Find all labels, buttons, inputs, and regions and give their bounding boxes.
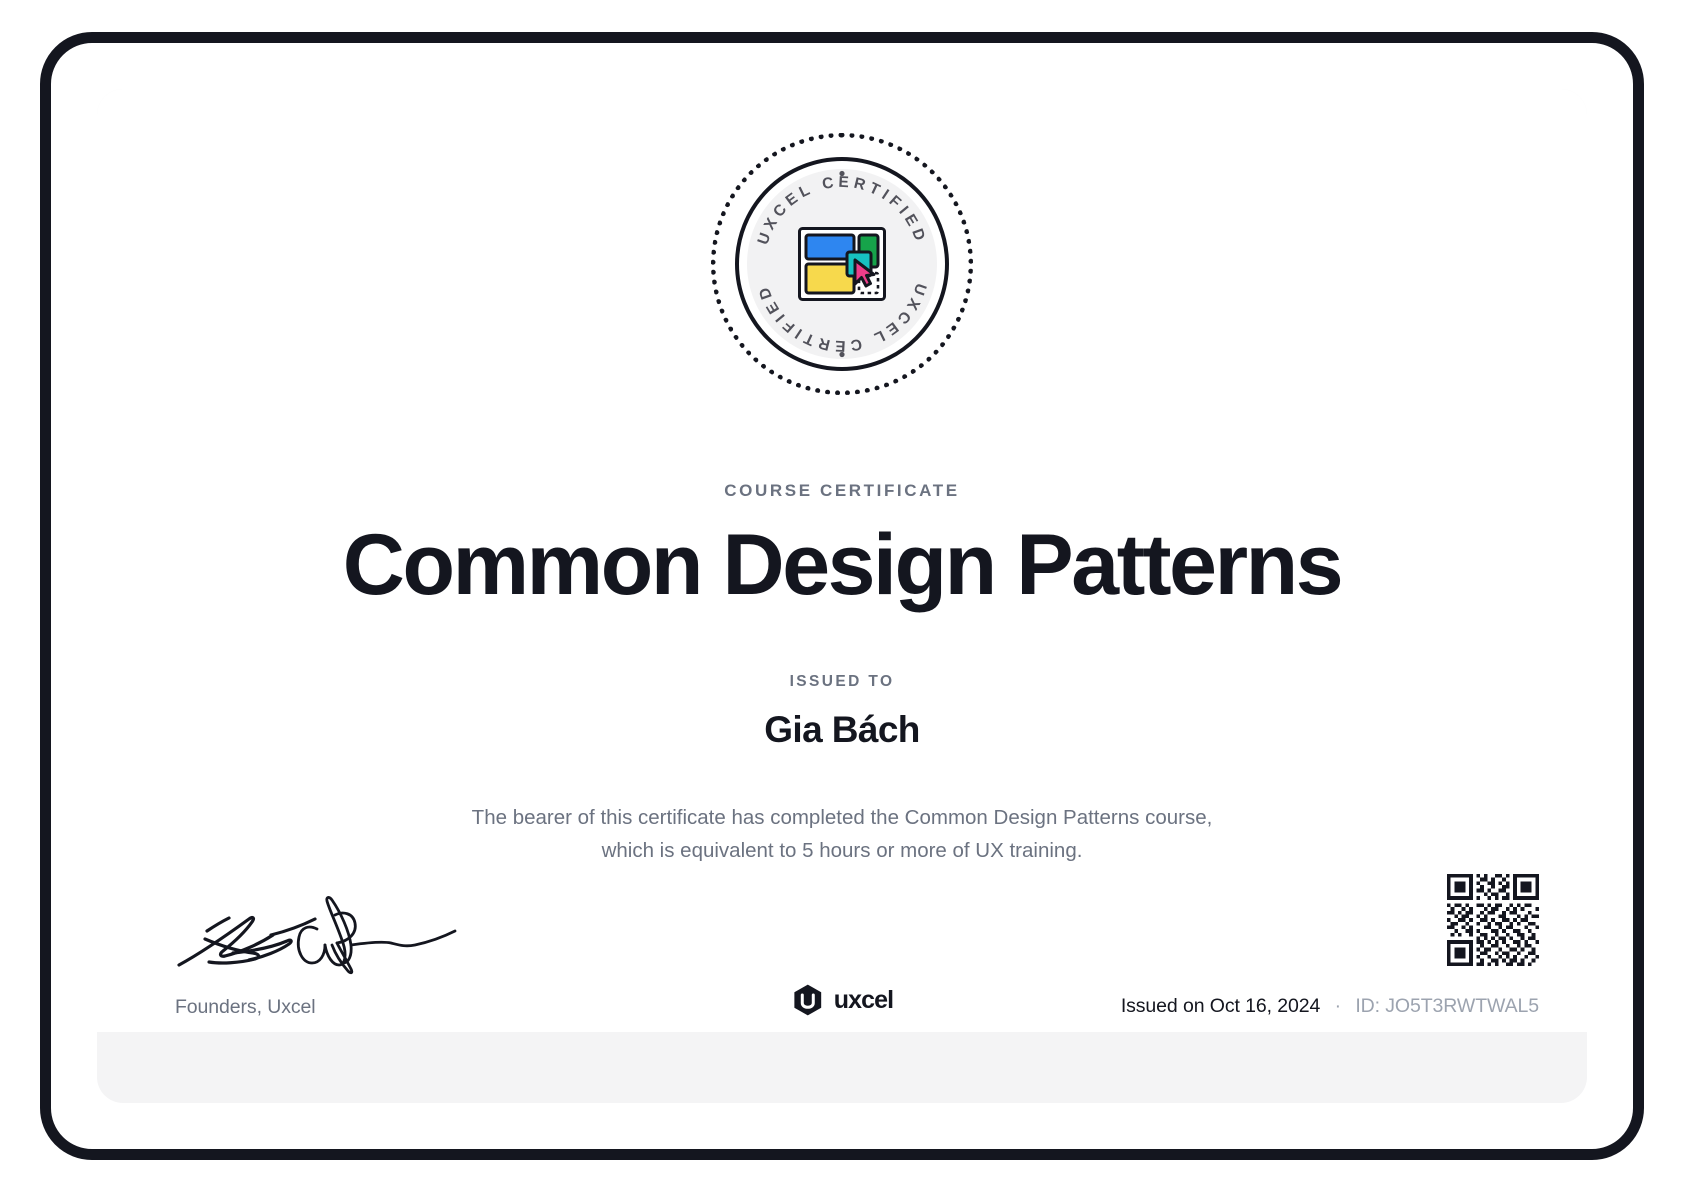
founder-signatures (175, 889, 465, 975)
certificate-description: The bearer of this certificate has compl… (462, 801, 1222, 867)
founders-label: Founders, Uxcel (175, 996, 315, 1019)
uxcel-hexagon-logo (791, 983, 825, 1017)
certificate-meta: Issued on Oct 16, 2024 · ID: JO5T3RWTWAL… (1121, 995, 1539, 1018)
page-title: Common Design Patterns (97, 519, 1587, 612)
certificate-frame: UXCEL CERTIFIED UXCEL CERTIFIED (40, 32, 1644, 1160)
uxcel-wordmark: uxcel (834, 986, 893, 1015)
uxcel-brand-logo: uxcel (791, 983, 893, 1017)
verification-qr-code[interactable] (1447, 874, 1539, 966)
issued-to-label: ISSUED TO (97, 673, 1587, 691)
seal-dot-bottom (839, 352, 844, 357)
certificate-page: UXCEL CERTIFIED UXCEL CERTIFIED (97, 89, 1587, 1032)
uxcel-certified-seal: UXCEL CERTIFIED UXCEL CERTIFIED (711, 133, 973, 395)
signature-two (298, 897, 455, 972)
issue-date: Issued on Oct 16, 2024 (1121, 995, 1320, 1017)
certificate-id: ID: JO5T3RWTWAL5 (1355, 995, 1539, 1017)
kicker-label: COURSE CERTIFICATE (97, 481, 1587, 501)
meta-separator: · (1326, 995, 1350, 1017)
design-patterns-icon (798, 227, 886, 301)
recipient-name: Gia Bách (97, 709, 1587, 751)
seal-dot-top (839, 171, 844, 176)
signature-one (179, 918, 315, 965)
certificate-inner-tray: UXCEL CERTIFIED UXCEL CERTIFIED (97, 89, 1587, 1103)
